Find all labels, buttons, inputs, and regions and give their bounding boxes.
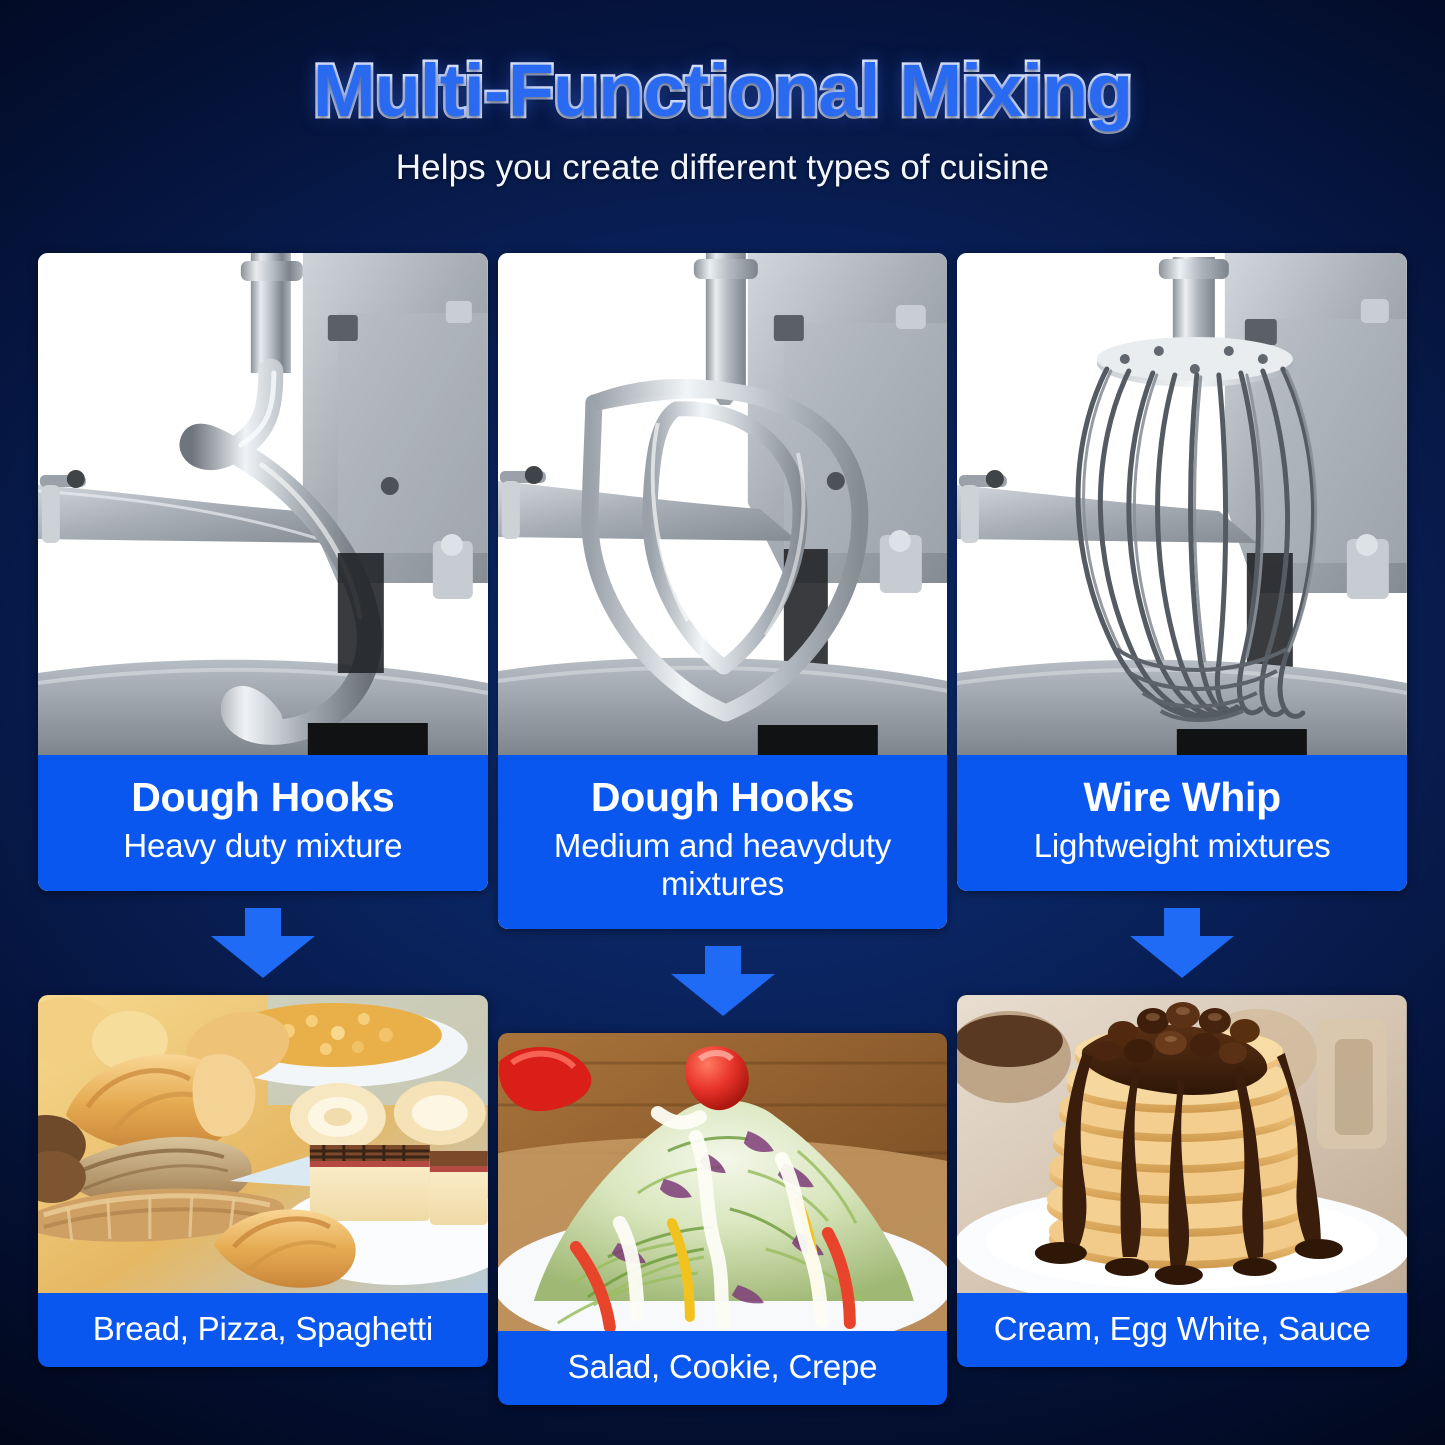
tool-description: Lightweight mixtures	[971, 827, 1393, 865]
page-title: Multi-Functional Mixing	[0, 52, 1445, 130]
wire-whip-photo	[957, 253, 1407, 755]
arrow-row	[498, 929, 948, 1033]
tool-description: Medium and heavyduty mixtures	[512, 827, 934, 903]
tool-description: Heavy duty mixture	[52, 827, 474, 865]
dough-hook-photo	[38, 253, 488, 755]
salad-photo	[498, 1033, 948, 1331]
feature-column: Wire Whip Lightweight mixtures	[957, 253, 1407, 1405]
tool-label: Wire Whip Lightweight mixtures	[957, 755, 1407, 891]
arrow-row	[38, 891, 488, 995]
header: Multi-Functional Mixing Helps you create…	[0, 0, 1445, 188]
food-card: Cream, Egg White, Sauce	[957, 995, 1407, 1367]
infographic-page: Multi-Functional Mixing Helps you create…	[0, 0, 1445, 1445]
tool-name: Dough Hooks	[52, 775, 474, 819]
tool-card: Dough Hooks Medium and heavyduty mixture…	[498, 253, 948, 929]
tool-name: Dough Hooks	[512, 775, 934, 819]
tool-card: Wire Whip Lightweight mixtures	[957, 253, 1407, 891]
food-caption: Cream, Egg White, Sauce	[957, 1293, 1407, 1367]
down-arrow-icon	[211, 908, 315, 978]
food-card: Salad, Cookie, Crepe	[498, 1033, 948, 1405]
down-arrow-icon	[1130, 908, 1234, 978]
down-arrow-icon	[671, 946, 775, 1016]
arrow-row	[957, 891, 1407, 995]
pancake-photo	[957, 995, 1407, 1293]
page-subtitle: Helps you create different types of cuis…	[0, 148, 1445, 188]
bread-photo	[38, 995, 488, 1293]
food-card: Bread, Pizza, Spaghetti	[38, 995, 488, 1367]
tool-name: Wire Whip	[971, 775, 1393, 819]
food-caption: Bread, Pizza, Spaghetti	[38, 1293, 488, 1367]
feature-column: Dough Hooks Medium and heavyduty mixture…	[498, 253, 948, 1405]
tool-card: Dough Hooks Heavy duty mixture	[38, 253, 488, 891]
food-caption: Salad, Cookie, Crepe	[498, 1331, 948, 1405]
flat-beater-photo	[498, 253, 948, 755]
tool-label: Dough Hooks Heavy duty mixture	[38, 755, 488, 891]
tool-label: Dough Hooks Medium and heavyduty mixture…	[498, 755, 948, 929]
feature-column: Dough Hooks Heavy duty mixture	[38, 253, 488, 1405]
feature-columns: Dough Hooks Heavy duty mixture	[38, 253, 1407, 1405]
